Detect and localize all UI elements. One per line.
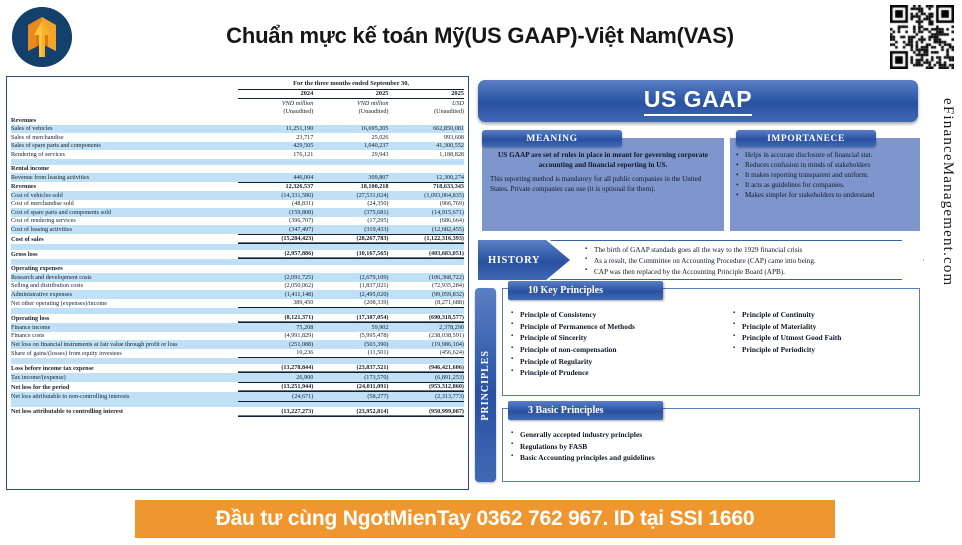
table-row: Net loss attributable to non-controlling…	[11, 392, 464, 402]
key-principles-col-a: Principle of ConsistencyPrinciple of Per…	[511, 309, 733, 379]
row-value-1: 29,943	[313, 150, 388, 159]
qr-code-icon	[890, 5, 954, 69]
key-principles-list-a: Principle of ConsistencyPrinciple of Per…	[511, 309, 733, 379]
table-unit-row: VND million VND million USD	[11, 99, 464, 108]
col-audit-2: (Unaudited)	[388, 108, 464, 117]
basic-principle-item: Regulations by FASB	[511, 441, 913, 453]
row-label: Operating expenses	[11, 265, 238, 274]
row-value-2: 41,300,552	[388, 142, 464, 151]
table-row: Sales of vehicles11,251,19016,695,205662…	[11, 125, 464, 134]
row-value-2: (403,683,051)	[388, 250, 464, 259]
promo-banner: Đầu tư cùng NgotMienTay 0362 762 967. ID…	[135, 500, 835, 538]
table-row: Operating loss(8,121,371)(17,387,054)(69…	[11, 314, 464, 323]
table-row: Loss before income tax expense(13,278,84…	[11, 364, 464, 373]
importance-item: It makes reporting transparent and unifo…	[736, 170, 916, 180]
row-label: Net other operating (expenses)/income	[11, 299, 238, 308]
row-value-2: (6,891,253)	[388, 373, 464, 383]
page-title: Chuẩn mực kế toán Mỹ(US GAAP)-Việt Nam(V…	[110, 0, 850, 72]
row-value-1: (173,570)	[313, 373, 388, 383]
key-principle-item: Principle of Regularity	[511, 356, 733, 368]
table-row: Gross loss(2,957,886)(10,167,565)(403,68…	[11, 250, 464, 259]
row-value-0: 429,505	[238, 142, 313, 151]
col-year-2: 2025	[388, 89, 464, 99]
row-value-2: (8,271,688)	[388, 299, 464, 308]
row-value-2: (99,059,832)	[388, 290, 464, 299]
row-value-1: (319,433)	[313, 225, 388, 234]
row-label: Cost of spare parts and components sold	[11, 208, 238, 217]
row-value-1: 16,695,205	[313, 125, 388, 134]
row-value-0: (4,991,829)	[238, 332, 313, 341]
row-label: Loss before income tax expense	[11, 364, 238, 373]
table-row: Net loss attributable to controlling int…	[11, 407, 464, 416]
row-value-1	[313, 116, 388, 125]
row-value-2	[388, 116, 464, 125]
meaning-headline: US GAAP are set of rules in place in mea…	[490, 150, 716, 169]
row-value-1: (24,350)	[313, 200, 388, 209]
row-label: Share of gains/(losses) from equity inve…	[11, 349, 238, 358]
row-value-0: (396,707)	[238, 217, 313, 226]
row-value-0: (2,091,725)	[238, 273, 313, 282]
row-value-2: 662,850,081	[388, 125, 464, 134]
row-value-1: (2,679,109)	[313, 273, 388, 282]
table-row: Cost of sales(15,284,423)(28,267,783)(1,…	[11, 234, 464, 244]
header-blank-cell	[11, 80, 238, 89]
row-value-1: (24,011,091)	[313, 382, 388, 392]
row-value-1	[313, 165, 388, 174]
row-value-0: (15,284,423)	[238, 234, 313, 244]
importance-item: It acts as guidelines for companies.	[736, 180, 916, 190]
row-value-0: 75,208	[238, 323, 313, 332]
row-label: Revenues	[11, 182, 238, 191]
basic-principle-item: Basic Accounting principles and guidelin…	[511, 452, 913, 464]
row-value-2: (690,318,577)	[388, 314, 464, 323]
period-header: For the three months ended September 30,	[238, 80, 464, 89]
table-row: Net loss for the period(13,251,944)(24,0…	[11, 382, 464, 392]
key-principle-item: Principle of Utmost Good Faith	[733, 332, 913, 344]
table-year-row: 2024 2025 2025	[11, 89, 464, 99]
row-value-1: (58,277)	[313, 392, 388, 402]
row-value-2: 2,378,290	[388, 323, 464, 332]
row-value-0: (347,497)	[238, 225, 313, 234]
row-value-1	[313, 265, 388, 274]
row-value-0: (13,278,844)	[238, 364, 313, 373]
key-principles-panel: Principle of ConsistencyPrinciple of Per…	[502, 288, 920, 396]
row-value-2: (72,935,284)	[388, 282, 464, 291]
row-value-0: (13,251,944)	[238, 382, 313, 392]
table-row: Rendering of services176,12129,9431,188,…	[11, 150, 464, 159]
row-label: Rental income	[11, 165, 238, 174]
row-value-1: 18,100,218	[313, 182, 388, 191]
row-value-0	[238, 265, 313, 274]
row-value-0: (2,050,062)	[238, 282, 313, 291]
row-value-1: (27,531,024)	[313, 191, 388, 200]
site-watermark: eFinanceManagement.com	[916, 98, 956, 418]
key-principle-item: Principle of Materiality	[733, 321, 913, 333]
table-row: Share of gains/(losses) from equity inve…	[11, 349, 464, 358]
table-row: Research and development costs(2,091,725…	[11, 273, 464, 282]
key-principle-item: Principle of non-compensation	[511, 344, 733, 356]
row-value-2: (14,915,671)	[388, 208, 464, 217]
row-label: Revenue from leasing activities	[11, 173, 238, 182]
row-label: Revenues	[11, 116, 238, 125]
table-row: Cost of leasing activities(347,497)(319,…	[11, 225, 464, 234]
key-principles-caption-text: 10 Key Principles	[528, 285, 603, 296]
row-value-1: (1,837,021)	[313, 282, 388, 291]
row-label: Selling and distribution costs	[11, 282, 238, 291]
key-principles-caption: 10 Key Principles	[508, 281, 663, 300]
meaning-box: US GAAP are set of rules in place in mea…	[482, 138, 724, 231]
row-value-2	[388, 165, 464, 174]
table-row: Sales of merchandise23,71725,026993,608	[11, 133, 464, 142]
table-row: Finance income75,20859,9022,378,290	[11, 323, 464, 332]
basic-principles-list: Generally accepted industry principlesRe…	[511, 429, 913, 464]
basic-principle-item: Generally accepted industry principles	[511, 429, 913, 441]
row-value-2: (456,624)	[388, 349, 464, 358]
financial-statement-panel: For the three months ended September 30,…	[6, 76, 469, 490]
table-body: RevenuesSales of vehicles11,251,19016,69…	[11, 116, 464, 416]
table-row: Tax income/(expense)26,900(173,570)(6,89…	[11, 373, 464, 383]
table-row: Net other operating (expenses)/income389…	[11, 299, 464, 308]
history-caption-text: HISTORY	[488, 255, 540, 266]
col-unit-0: VND million	[238, 99, 313, 108]
row-value-2: (1,122,316,393)	[388, 234, 464, 244]
row-label: Net loss on financial instruments at fai…	[11, 340, 238, 349]
basic-principles-panel: Generally accepted industry principlesRe…	[502, 408, 920, 482]
table-audit-row: (Unaudited) (Unaudited) (Unaudited)	[11, 108, 464, 117]
row-value-0: 26,900	[238, 373, 313, 383]
row-value-1: (11,501)	[313, 349, 388, 358]
row-value-2: (686,664)	[388, 217, 464, 226]
row-value-0: (13,227,273)	[238, 407, 313, 416]
row-value-0: 389,450	[238, 299, 313, 308]
row-label: Finance costs	[11, 332, 238, 341]
importance-caption: IMPORTANECE	[736, 130, 876, 147]
col-audit-0: (Unaudited)	[238, 108, 313, 117]
gaap-title-text: US GAAP	[644, 86, 752, 116]
importance-caption-text: IMPORTANECE	[767, 134, 845, 144]
row-value-2: 12,300,274	[388, 173, 464, 182]
row-value-0: (8,121,371)	[238, 314, 313, 323]
row-value-0: 176,121	[238, 150, 313, 159]
table-row: Revenues	[11, 116, 464, 125]
table-row: Selling and distribution costs(2,050,062…	[11, 282, 464, 291]
row-value-0: (2,957,886)	[238, 250, 313, 259]
row-label: Cost of merchandise sold	[11, 200, 238, 209]
row-value-0: (24,671)	[238, 392, 313, 402]
history-row: The birth of GAAP standads goes all the …	[478, 238, 924, 282]
table-row: Cost of vehicles sold(14,331,580)(27,531…	[11, 191, 464, 200]
row-label: Cost of vehicles sold	[11, 191, 238, 200]
row-value-2: 993,608	[388, 133, 464, 142]
row-label: Gross loss	[11, 250, 238, 259]
row-label: Sales of merchandise	[11, 133, 238, 142]
footer-area: Đầu tư cùng NgotMienTay 0362 762 967. ID…	[0, 494, 962, 545]
promo-banner-text: Đầu tư cùng NgotMienTay 0362 762 967. ID…	[216, 507, 755, 531]
principles-side-label: PRINCIPLES	[480, 350, 491, 421]
row-label: Net loss attributable to non-controlling…	[11, 392, 238, 402]
key-principles-list-b: Principle of ContinuityPrinciple of Mate…	[733, 309, 913, 356]
row-value-0: 11,251,190	[238, 125, 313, 134]
row-label: Cost of sales	[11, 234, 238, 244]
table-row: Revenue from leasing activities446,00430…	[11, 173, 464, 182]
row-value-2: (946,421,606)	[388, 364, 464, 373]
row-value-1: (2,495,020)	[313, 290, 388, 299]
row-label: Operating loss	[11, 314, 238, 323]
key-principle-item: Principle of Prudence	[511, 367, 733, 379]
row-value-0: (1,411,148)	[238, 290, 313, 299]
row-label: Cost of rendering services	[11, 217, 238, 226]
row-label: Research and development costs	[11, 273, 238, 282]
table-row: Net loss on financial instruments at fai…	[11, 340, 464, 349]
key-principles-body: Principle of ConsistencyPrinciple of Per…	[503, 289, 919, 383]
row-value-2	[388, 265, 464, 274]
table-row: Revenues12,326,53718,100,218718,633,343	[11, 182, 464, 191]
importance-item: Makes simpler for stakeholders to unders…	[736, 190, 916, 200]
row-value-2: (238,038,591)	[388, 332, 464, 341]
table-header: For the three months ended September 30,…	[11, 80, 464, 116]
row-value-2: (950,999,087)	[388, 407, 464, 416]
page-header: Chuẩn mực kế toán Mỹ(US GAAP)-Việt Nam(V…	[0, 0, 962, 72]
col-unit-1: VND million	[313, 99, 388, 108]
table-row: Operating expenses	[11, 265, 464, 274]
history-arrow-shape: The birth of GAAP standads goes all the …	[550, 240, 924, 280]
row-value-1: (23,952,814)	[313, 407, 388, 416]
row-label: Sales of vehicles	[11, 125, 238, 134]
row-value-2: 1,188,828	[388, 150, 464, 159]
basic-principles-caption-text: 3 Basic Principles	[528, 405, 604, 416]
row-value-0: 23,717	[238, 133, 313, 142]
meaning-caption: MEANING	[482, 130, 622, 147]
col-year-0: 2024	[238, 89, 313, 99]
row-value-2: (106,368,722)	[388, 273, 464, 282]
table-row: Sales of spare parts and components429,5…	[11, 142, 464, 151]
row-value-0: (159,808)	[238, 208, 313, 217]
meaning-body: This reporting method is mandatory for a…	[490, 175, 716, 194]
key-principle-item: Principle of Permanence of Methods	[511, 321, 733, 333]
row-label: Administrative expenses	[11, 290, 238, 299]
row-value-1: 309,807	[313, 173, 388, 182]
income-statement-table: For the three months ended September 30,…	[11, 80, 464, 417]
meaning-caption-text: MEANING	[526, 134, 577, 144]
history-list: The birth of GAAP standads goes all the …	[551, 241, 923, 277]
table-row: Rental income	[11, 165, 464, 174]
row-value-0	[238, 165, 313, 174]
importance-item: Reduces confusion in minds of stakeholde…	[736, 160, 916, 170]
row-label: Finance income	[11, 323, 238, 332]
key-principles-col-b: Principle of ContinuityPrinciple of Mate…	[733, 309, 913, 379]
row-value-1: 25,026	[313, 133, 388, 142]
col-audit-1: (Unaudited)	[313, 108, 388, 117]
row-value-1: (23,837,521)	[313, 364, 388, 373]
row-label: Sales of spare parts and components	[11, 142, 238, 151]
table-row: Cost of rendering services(396,707)(17,2…	[11, 217, 464, 226]
row-value-2: (2,313,773)	[388, 392, 464, 402]
brand-logo-icon	[12, 7, 72, 67]
row-value-2: 718,633,343	[388, 182, 464, 191]
row-label: Cost of leasing activities	[11, 225, 238, 234]
col-unit-2: USD	[388, 99, 464, 108]
importance-box: Helps in accurate disclosure of financia…	[730, 138, 920, 231]
row-label: Rendering of services	[11, 150, 238, 159]
table-row: Cost of spare parts and components sold(…	[11, 208, 464, 217]
history-item: CAP was then replaced by the Accounting …	[585, 267, 923, 278]
row-label: Tax income/(expense)	[11, 373, 238, 383]
table-period-header-row: For the three months ended September 30,	[11, 80, 464, 89]
row-value-0	[238, 116, 313, 125]
basic-principles-caption: 3 Basic Principles	[508, 401, 663, 420]
row-value-1: (375,681)	[313, 208, 388, 217]
row-value-0: (48,831)	[238, 200, 313, 209]
table-row: Administrative expenses(1,411,148)(2,495…	[11, 290, 464, 299]
key-principle-item: Principle of Continuity	[733, 309, 913, 321]
history-tag: HISTORY	[478, 240, 570, 280]
row-value-0: 10,236	[238, 349, 313, 358]
key-principle-item: Principle of Consistency	[511, 309, 733, 321]
row-value-1: (17,295)	[313, 217, 388, 226]
row-value-0: (14,331,580)	[238, 191, 313, 200]
row-value-1: (17,387,054)	[313, 314, 388, 323]
us-gaap-infographic: US GAAP US GAAP are set of rules in plac…	[474, 78, 929, 490]
table-row: Finance costs(4,991,829)(5,995,478)(238,…	[11, 332, 464, 341]
row-value-2: (1,093,064,835)	[388, 191, 464, 200]
importance-list: Helps in accurate disclosure of financia…	[736, 150, 916, 200]
row-value-0: 446,004	[238, 173, 313, 182]
key-principle-item: Principle of Sincerity	[511, 332, 733, 344]
table-row: Cost of merchandise sold(48,831)(24,350)…	[11, 200, 464, 209]
row-value-1: 1,040,237	[313, 142, 388, 151]
row-value-0: 12,326,537	[238, 182, 313, 191]
row-label: Net loss for the period	[11, 382, 238, 392]
key-principle-item: Principle of Periodicity	[733, 344, 913, 356]
row-value-2: (19,986,104)	[388, 340, 464, 349]
col-year-1: 2025	[313, 89, 388, 99]
row-value-1: (28,267,783)	[313, 234, 388, 244]
importance-item: Helps in accurate disclosure of financia…	[736, 150, 916, 160]
row-value-2: (953,312,860)	[388, 382, 464, 392]
row-value-2: (12,682,455)	[388, 225, 464, 234]
history-item: The birth of GAAP standads goes all the …	[585, 245, 923, 256]
row-value-1: 59,902	[313, 323, 388, 332]
row-value-0: (251,088)	[238, 340, 313, 349]
row-value-1: (10,167,565)	[313, 250, 388, 259]
row-label: Net loss attributable to controlling int…	[11, 407, 238, 416]
row-value-1: (208,339)	[313, 299, 388, 308]
row-value-1: (503,390)	[313, 340, 388, 349]
row-value-1: (5,995,478)	[313, 332, 388, 341]
principles-side-bar: PRINCIPLES	[475, 288, 496, 482]
row-value-2: (966,769)	[388, 200, 464, 209]
history-item: As a result, the Committee on Accounting…	[585, 256, 923, 267]
gaap-title-banner: US GAAP	[478, 80, 918, 122]
